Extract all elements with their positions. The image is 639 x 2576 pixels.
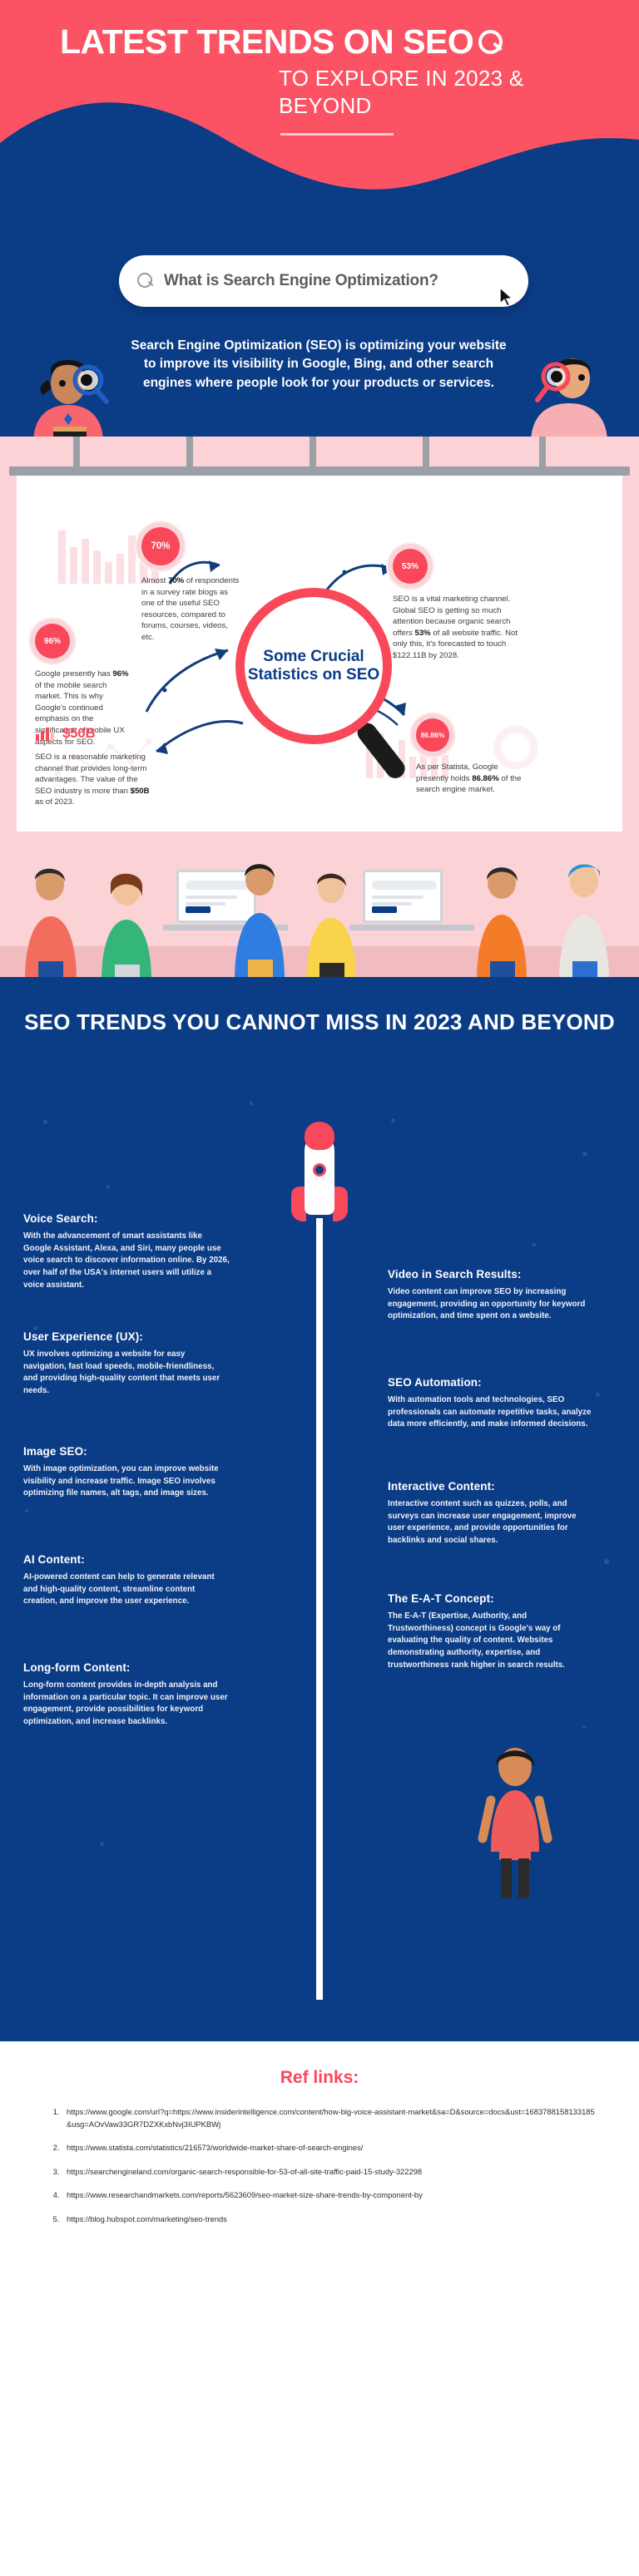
hero-title: LATEST TRENDS ON SEO — [60, 25, 592, 59]
rocket-nose — [305, 1122, 334, 1150]
star-decoration — [106, 1185, 110, 1188]
stat-50b-text-after: as of 2023. — [35, 797, 74, 807]
trend-voice-search-body: With the advancement of smart assistants… — [23, 1231, 230, 1291]
stat-70-text: Almost 70% of respondents in a survey ra… — [141, 575, 240, 644]
trend-seo-automation-body: With automation tools and technologies, … — [388, 1394, 594, 1431]
search-bar[interactable]: What is Search Engine Optimization? — [119, 255, 528, 307]
star-decoration — [582, 1152, 587, 1157]
stat-50b-text: SEO is a reasonable marketing channel th… — [35, 752, 150, 808]
stat-96-text-before: Google presently has — [35, 669, 112, 679]
stat-50b-badge: $50B — [62, 725, 95, 742]
star-decoration — [391, 1118, 395, 1123]
stats-board: 70% Almost 70% of respondents in a surve… — [17, 476, 622, 833]
person-illustration — [15, 861, 87, 981]
trend-interactive-content-body: Interactive content such as quizzes, pol… — [388, 1498, 594, 1547]
stat-86-badge: 86.86% — [416, 718, 449, 752]
trend-interactive-content: Interactive Content: Interactive content… — [388, 1480, 594, 1547]
stat-96-highlight: 96% — [112, 669, 128, 679]
person-looking-up-illustration — [466, 1742, 564, 1900]
trend-long-form-content-title: Long-form Content: — [23, 1661, 230, 1674]
rocket-window — [313, 1163, 326, 1177]
trend-interactive-content-title: Interactive Content: — [388, 1480, 594, 1493]
monitor-button — [372, 906, 397, 913]
search-input[interactable]: What is Search Engine Optimization? — [164, 272, 438, 290]
references-list: https://www.google.com/url?q=https://www… — [47, 2106, 596, 2237]
stats-board-section: 70% Almost 70% of respondents in a surve… — [0, 437, 639, 877]
trend-video-in-search-results: Video in Search Results: Video content c… — [388, 1268, 594, 1323]
monitor-button — [186, 906, 211, 913]
trend-user-experience: User Experience (UX): UX involves optimi… — [23, 1330, 230, 1398]
person-illustration — [225, 856, 295, 981]
reference-link-3[interactable]: https://searchengineland.com/organic-sea… — [62, 2166, 596, 2179]
trend-eat-concept-title: The E-A-T Concept: — [388, 1592, 594, 1605]
magnifier-handle — [354, 719, 409, 782]
hero-subtitle: TO EXPLORE IN 2023 & BEYOND — [279, 65, 595, 121]
trend-voice-search-title: Voice Search: — [23, 1212, 230, 1225]
stats-center-label: Some Crucial Statistics on SEO — [245, 648, 383, 685]
people-illustration-band — [0, 832, 639, 981]
stat-96-badge: 96% — [35, 624, 70, 659]
trend-eat-concept: The E-A-T Concept: The E-A-T (Expertise,… — [388, 1592, 594, 1671]
stat-70: 70% Almost 70% of respondents in a surve… — [141, 527, 240, 644]
monitor-line — [372, 902, 412, 906]
monitor-line — [186, 902, 225, 906]
magnifier-icon — [478, 30, 503, 55]
bar-chart-icon — [35, 726, 57, 741]
star-decoration — [532, 1243, 536, 1246]
rocket-fin-right — [333, 1187, 348, 1221]
trend-seo-automation: SEO Automation: With automation tools an… — [388, 1376, 594, 1431]
trend-image-seo-body: With image optimization, you can improve… — [23, 1463, 230, 1500]
search-icon — [137, 273, 154, 289]
person-illustration — [90, 868, 163, 981]
person-illustration — [547, 858, 621, 981]
hero-divider — [280, 133, 394, 136]
star-decoration — [604, 1559, 609, 1564]
reference-link-5[interactable]: https://blog.hubspot.com/marketing/seo-t… — [62, 2213, 596, 2226]
intro-section: What is Search Engine Optimization? Sear… — [0, 204, 639, 445]
star-decoration — [25, 1509, 28, 1513]
stat-70-text-after: of respondents in a survey rate blogs as… — [141, 576, 239, 642]
man-with-magnifier-illustration — [518, 335, 622, 445]
stat-70-text-before: Almost — [141, 576, 168, 585]
star-decoration — [250, 1102, 253, 1105]
trend-eat-concept-body: The E-A-T (Expertise, Authority, and Tru… — [388, 1611, 594, 1671]
woman-with-magnifier-illustration — [15, 337, 123, 445]
rocket-icon — [286, 1135, 353, 2000]
magnifier-lens: Some Crucial Statistics on SEO — [235, 588, 392, 744]
trend-user-experience-title: User Experience (UX): — [23, 1330, 230, 1343]
trend-long-form-content: Long-form Content: Long-form content pro… — [23, 1661, 230, 1729]
hero-section: LATEST TRENDS ON SEO TO EXPLORE IN 2023 … — [0, 0, 639, 223]
desk — [349, 925, 474, 930]
stat-53-badge: 53% — [393, 549, 428, 584]
trend-image-seo: Image SEO: With image optimization, you … — [23, 1445, 230, 1500]
star-decoration — [582, 1725, 586, 1729]
trend-video-body: Video content can improve SEO by increas… — [388, 1286, 594, 1323]
trend-image-seo-title: Image SEO: — [23, 1445, 230, 1458]
hero-title-text: LATEST TRENDS ON SEO — [60, 25, 473, 59]
trend-voice-search: Voice Search: With the advancement of sm… — [23, 1212, 230, 1291]
monitor-line — [372, 896, 424, 899]
magnifying-glass-icon: Some Crucial Statistics on SEO — [229, 588, 420, 800]
stat-50b-header: $50B — [35, 725, 150, 742]
stat-50b-highlight: $50B — [131, 787, 150, 796]
stat-86: 86.86% As per Statista, Google presently… — [416, 718, 532, 796]
trend-video-title: Video in Search Results: — [388, 1268, 594, 1281]
trend-ai-content-title: AI Content: — [23, 1553, 230, 1566]
references-title: Ref links: — [0, 2068, 639, 2088]
rocket-trail — [316, 1218, 323, 2000]
stat-70-badge: 70% — [141, 527, 180, 565]
stat-70-highlight: 70% — [168, 576, 184, 585]
mouse-pointer-icon — [499, 287, 513, 307]
star-decoration — [43, 1120, 47, 1124]
trend-ai-content: AI Content: AI-powered content can help … — [23, 1553, 230, 1608]
star-decoration — [100, 1842, 104, 1846]
person-illustration — [296, 866, 366, 981]
arrow-decoration-1 — [141, 632, 241, 723]
star-decoration — [596, 1393, 600, 1397]
stat-86-highlight: 86.86% — [472, 774, 499, 783]
trends-heading: SEO TRENDS YOU CANNOT MISS IN 2023 AND B… — [0, 1009, 639, 1037]
stat-86-text: As per Statista, Google presently holds … — [416, 762, 532, 796]
trends-section: SEO TRENDS YOU CANNOT MISS IN 2023 AND B… — [0, 977, 639, 2041]
trend-user-experience-body: UX involves optimizing a website for eas… — [23, 1349, 230, 1398]
reference-link-4[interactable]: https://www.researchandmarkets.com/repor… — [62, 2189, 596, 2202]
trend-seo-automation-title: SEO Automation: — [388, 1376, 594, 1389]
person-illustration — [466, 860, 537, 981]
monitor-screen — [363, 870, 443, 923]
monitor-search-bar — [372, 881, 437, 890]
reference-link-2[interactable]: https://www.statista.com/statistics/2165… — [62, 2142, 596, 2154]
trend-ai-content-body: AI-powered content can help to generate … — [23, 1572, 230, 1608]
board-rail-decoration — [9, 466, 630, 476]
intro-paragraph: Search Engine Optimization (SEO) is opti… — [123, 337, 514, 392]
references-section: Ref links: https://www.google.com/url?q=… — [0, 2041, 639, 2576]
stat-50b: $50B SEO is a reasonable marketing chann… — [35, 725, 150, 808]
reference-link-1[interactable]: https://www.google.com/url?q=https://www… — [62, 2106, 596, 2130]
trend-long-form-content-body: Long-form content provides in-depth anal… — [23, 1680, 230, 1729]
